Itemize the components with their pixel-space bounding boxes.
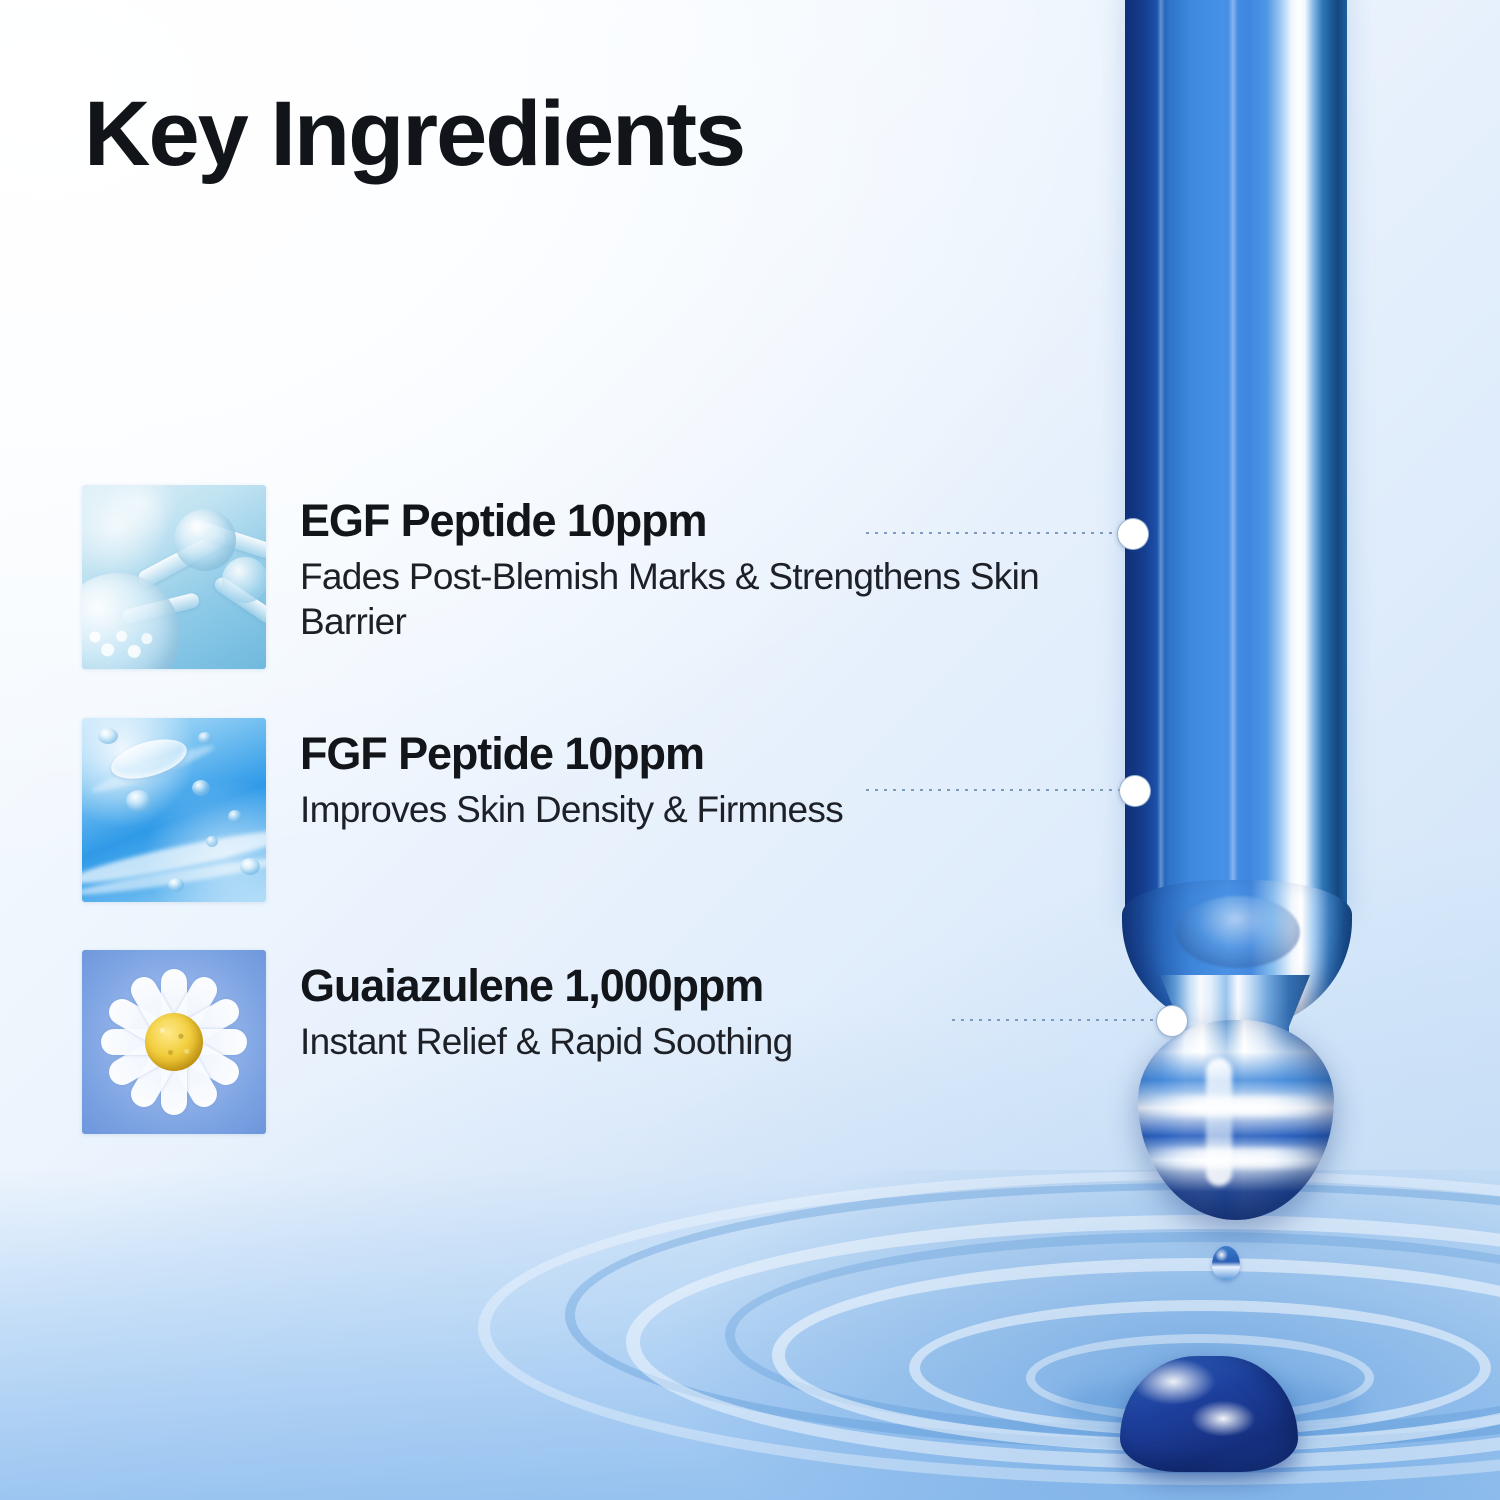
water-droplet-decor	[198, 732, 212, 744]
connector-line-egf	[866, 532, 1128, 534]
water-droplet-decor	[192, 780, 210, 796]
ingredient-list: EGF Peptide 10ppm Fades Post-Blemish Mar…	[82, 485, 1062, 1134]
water-droplet-decor	[228, 810, 242, 823]
ingredient-description: Improves Skin Density & Firmness	[300, 787, 843, 833]
ingredient-description: Instant Relief & Rapid Soothing	[300, 1019, 793, 1065]
dropper-bulb-inner-reflection	[1176, 896, 1300, 968]
ingredient-text-block: FGF Peptide 10ppm Improves Skin Density …	[300, 718, 843, 832]
connector-dot-egf	[1117, 518, 1149, 550]
water-droplet-decor	[98, 728, 118, 744]
molecule-node-icon	[222, 557, 266, 603]
pendant-droplet-band-1	[1146, 1096, 1326, 1116]
tube-highlight-right	[1228, 0, 1238, 920]
water-droplet-decor	[240, 858, 260, 875]
page-title: Key Ingredients	[84, 88, 744, 180]
ingredient-name: FGF Peptide 10ppm	[300, 730, 843, 778]
ingredient-name: EGF Peptide 10ppm	[300, 497, 1062, 545]
connector-line-fgf	[866, 789, 1130, 791]
infographic-canvas: Key Ingredients EGF Peptide 10ppm Fades …	[0, 0, 1500, 1500]
connector-dot-fgf	[1119, 775, 1151, 807]
falling-droplet-small	[1212, 1246, 1240, 1280]
ingredient-text-block: EGF Peptide 10ppm Fades Post-Blemish Mar…	[300, 485, 1062, 645]
water-droplet-decor	[126, 790, 152, 812]
water-droplet-decor	[168, 878, 184, 892]
list-item: Guaiazulene 1,000ppm Instant Relief & Ra…	[82, 950, 1062, 1134]
ingredient-text-block: Guaiazulene 1,000ppm Instant Relief & Ra…	[300, 950, 793, 1064]
ingredient-description: Fades Post-Blemish Marks & Strengthens S…	[300, 554, 1062, 645]
water-droplet-decor	[206, 836, 218, 847]
list-item: EGF Peptide 10ppm Fades Post-Blemish Mar…	[82, 485, 1062, 669]
bubbles-decor	[88, 625, 158, 665]
ingredient-thumbnail-gel	[82, 718, 266, 902]
ingredient-thumbnail-chamomile	[82, 950, 266, 1134]
connector-dot-guaiazulene	[1156, 1005, 1188, 1037]
flower-center-texture	[145, 1013, 203, 1071]
ingredient-thumbnail-molecule	[82, 485, 266, 669]
connector-line-guaiazulene	[952, 1019, 1168, 1021]
tube-highlight-left	[1157, 0, 1165, 920]
pendant-droplet-band-2	[1146, 1148, 1326, 1168]
molecule-node-icon	[174, 509, 236, 571]
ingredient-name: Guaiazulene 1,000ppm	[300, 962, 793, 1010]
list-item: FGF Peptide 10ppm Improves Skin Density …	[82, 718, 1062, 902]
